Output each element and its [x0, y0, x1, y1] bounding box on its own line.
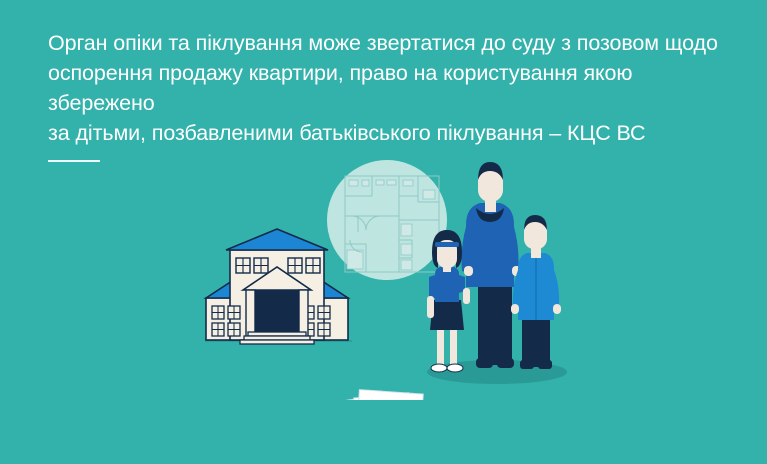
father-left-hand — [464, 266, 473, 276]
slide-canvas: Орган опіки та піклування може звертатис… — [0, 0, 767, 464]
main-roof — [226, 229, 328, 250]
courthouse-building — [205, 229, 352, 344]
girl-left-leg — [437, 328, 444, 366]
boy-left-shoe — [520, 360, 534, 369]
lawsuit-document-stack: ПОЗОВ — [347, 390, 426, 400]
girl-left-arm — [427, 296, 434, 318]
left-column — [246, 290, 255, 338]
document-front-sheet: ПОЗОВ — [354, 390, 424, 400]
boy-legs — [522, 315, 550, 367]
illustration: ПОЗОВ — [0, 140, 767, 400]
boy-figure — [511, 215, 561, 369]
girl-right-leg — [450, 328, 457, 366]
girl-headband — [435, 242, 459, 247]
father-right-shoe — [497, 358, 514, 368]
family-group — [427, 162, 567, 384]
girl-right-shoe — [447, 364, 463, 372]
father-left-shoe — [476, 358, 493, 368]
girl-right-arm — [463, 288, 470, 304]
father-figure — [462, 162, 522, 368]
girl-left-sleeve — [429, 275, 435, 299]
apartment-floorplan-circle — [327, 160, 447, 280]
right-column — [299, 290, 308, 338]
entrance-door — [252, 290, 302, 338]
boy-right-hand — [553, 304, 561, 314]
page-title: Орган опіки та піклування може звертатис… — [48, 28, 738, 148]
boy-right-shoe — [538, 360, 552, 369]
boy-right-sleeve — [552, 269, 559, 307]
girl-left-shoe — [431, 364, 447, 372]
boy-left-hand — [511, 304, 519, 314]
entrance-steps — [240, 332, 314, 344]
girl-skirt — [430, 300, 464, 330]
